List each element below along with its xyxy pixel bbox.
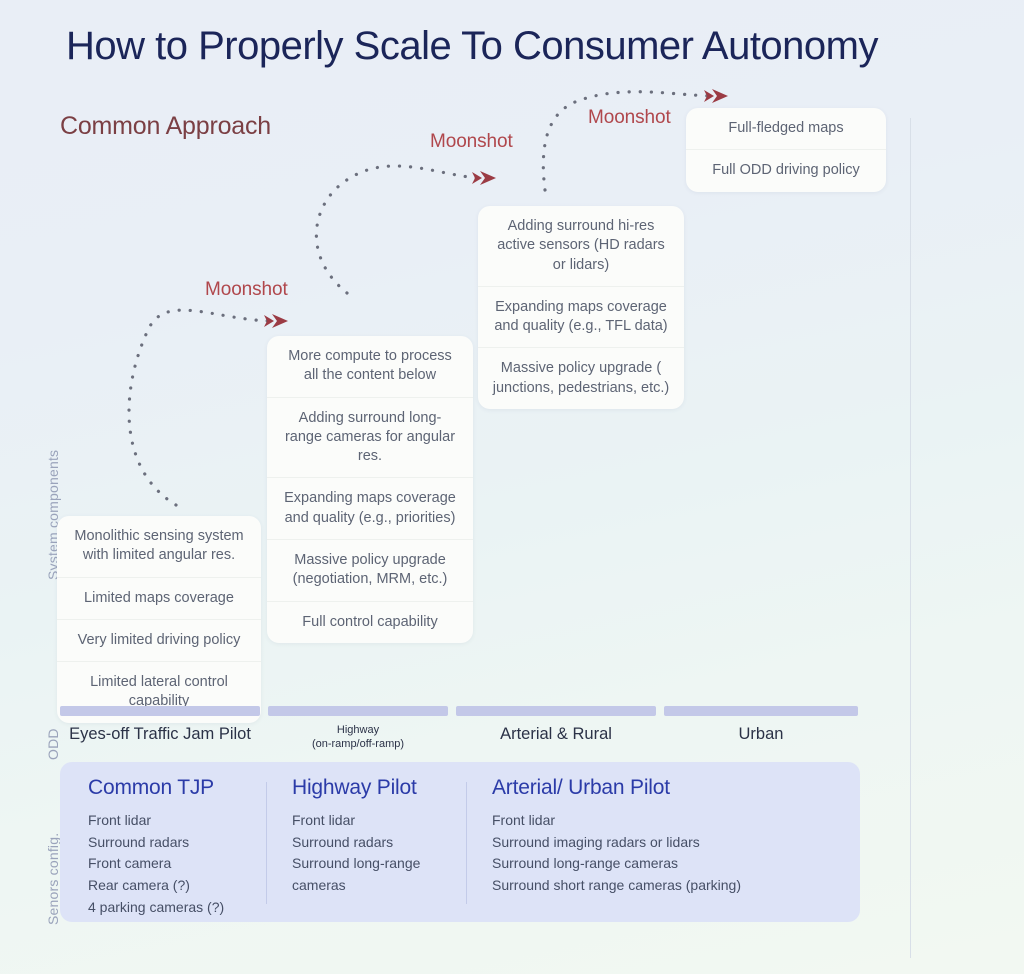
- component-cell: Full control capability: [267, 602, 473, 643]
- odd-segment[interactable]: [268, 706, 448, 716]
- sensor-column-divider: [466, 782, 467, 904]
- sensor-column-1: Common TJPFront lidarSurround radarsFron…: [88, 776, 224, 918]
- sensor-column-title: Highway Pilot: [292, 776, 420, 800]
- sensor-column-divider: [266, 782, 267, 904]
- moonshot-label-2: Moonshot: [430, 131, 513, 153]
- sensor-item: Surround radars: [88, 832, 224, 854]
- component-stack-2: More compute to process all the content …: [267, 336, 473, 643]
- odd-segment[interactable]: [456, 706, 656, 716]
- sensor-item: Surround long-range cameras: [492, 853, 741, 875]
- component-cell: Adding surround hi-res active sensors (H…: [478, 206, 684, 287]
- component-cell: Limited maps coverage: [57, 578, 261, 620]
- odd-segment[interactable]: [60, 706, 260, 716]
- sensor-column-3: Arterial/ Urban PilotFront lidarSurround…: [492, 776, 741, 897]
- moonshot-label-1: Moonshot: [205, 279, 288, 301]
- component-cell: Massive policy upgrade (negotiation, MRM…: [267, 540, 473, 602]
- component-cell: More compute to process all the content …: [267, 336, 473, 398]
- slide-canvas: How to Properly Scale To Consumer Autono…: [0, 0, 1024, 974]
- component-stack-3: Adding surround hi-res active sensors (H…: [478, 206, 684, 409]
- sensor-item: Surround short range cameras (parking): [492, 875, 741, 897]
- sensor-item: Front lidar: [88, 810, 224, 832]
- odd-label-line2: (on-ramp/off-ramp): [268, 738, 448, 752]
- sensor-item: Surround long-range: [292, 853, 420, 875]
- sensor-column-title: Common TJP: [88, 776, 224, 800]
- odd-label-line1: Arterial & Rural: [456, 724, 656, 745]
- sensor-item: Front lidar: [292, 810, 420, 832]
- odd-label-row: Eyes-off Traffic Jam PilotHighway(on-ram…: [60, 724, 858, 760]
- odd-segment[interactable]: [664, 706, 858, 716]
- sensor-column-2: Highway PilotFront lidarSurround radarsS…: [292, 776, 420, 897]
- section-heading-common-approach: Common Approach: [60, 112, 271, 141]
- sensor-item: 4 parking cameras (?): [88, 897, 224, 919]
- sensor-item: Surround imaging radars or lidars: [492, 832, 741, 854]
- component-cell: Expanding maps coverage and quality (e.g…: [478, 287, 684, 349]
- page-title: How to Properly Scale To Consumer Autono…: [66, 24, 1024, 68]
- component-cell: Very limited driving policy: [57, 620, 261, 662]
- odd-label: Urban: [664, 724, 858, 745]
- component-cell: Expanding maps coverage and quality (e.g…: [267, 478, 473, 540]
- vertical-rule: [910, 118, 911, 958]
- sensor-item: Front lidar: [492, 810, 741, 832]
- component-cell: Massive policy upgrade ( junctions, pede…: [478, 348, 684, 409]
- axis-label-sensors-config: Senors config.: [45, 833, 61, 925]
- odd-label-line1: Eyes-off Traffic Jam Pilot: [60, 724, 260, 745]
- sensor-item: Rear camera (?): [88, 875, 224, 897]
- component-cell: Adding surround long-range cameras for a…: [267, 398, 473, 479]
- component-cell: Full ODD driving policy: [686, 150, 886, 191]
- odd-band: [60, 706, 858, 716]
- component-cell: Monolithic sensing system with limited a…: [57, 516, 261, 578]
- component-stack-1: Monolithic sensing system with limited a…: [57, 516, 261, 723]
- sensor-item: cameras: [292, 875, 420, 897]
- axis-label-odd: ODD: [45, 728, 61, 760]
- odd-label: Highway(on-ramp/off-ramp): [268, 724, 448, 752]
- odd-label-line1: Urban: [664, 724, 858, 745]
- component-cell: Full-fledged maps: [686, 108, 886, 150]
- sensor-item: Surround radars: [292, 832, 420, 854]
- odd-label-line1: Highway: [268, 724, 448, 738]
- sensor-column-title: Arterial/ Urban Pilot: [492, 776, 741, 800]
- moonshot-label-3: Moonshot: [588, 107, 671, 129]
- odd-label: Arterial & Rural: [456, 724, 656, 745]
- sensors-config-panel: Common TJPFront lidarSurround radarsFron…: [60, 762, 860, 922]
- sensor-item: Front camera: [88, 853, 224, 875]
- component-stack-4: Full-fledged mapsFull ODD driving policy: [686, 108, 886, 192]
- odd-label: Eyes-off Traffic Jam Pilot: [60, 724, 260, 745]
